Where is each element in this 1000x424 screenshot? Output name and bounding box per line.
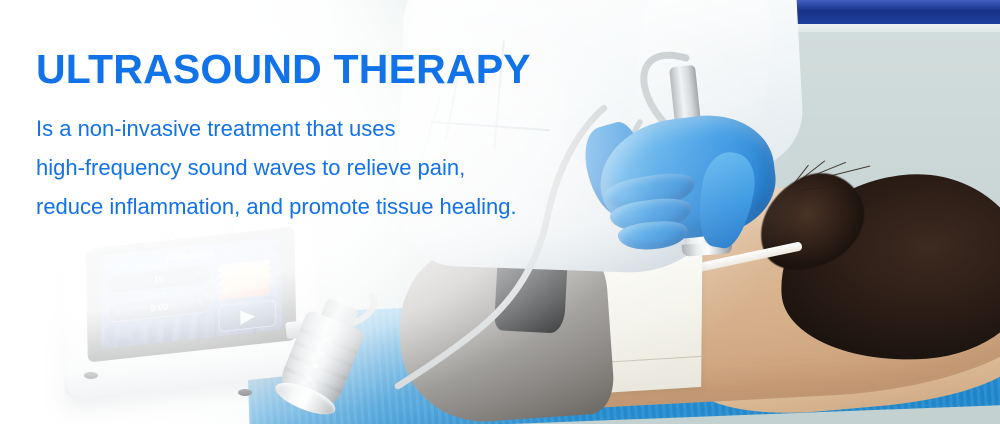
layered-waves-icon bbox=[219, 259, 275, 301]
subtitle-line-3: reduce inflammation, and promote tissue … bbox=[36, 187, 596, 226]
play-icon bbox=[240, 309, 255, 325]
probe-ring bbox=[299, 328, 358, 355]
device-foot bbox=[238, 389, 252, 396]
banner-subtitle: Is a non-invasive treatment that uses hi… bbox=[36, 109, 596, 226]
subtitle-line-1: Is a non-invasive treatment that uses bbox=[36, 109, 596, 148]
chevron-up-icon[interactable]: ^ bbox=[194, 297, 206, 308]
page-title: ULTRASOUND THERAPY bbox=[36, 48, 596, 91]
chevron-up-icon[interactable]: ^ bbox=[194, 269, 206, 280]
device-foot bbox=[84, 372, 98, 379]
subtitle-line-2: high-frequency sound waves to relieve pa… bbox=[36, 148, 596, 187]
device-touchscreen[interactable]: 🔊 Abdomen W 2.5 W/cm2 Strength ‹ 10 ^ Ti… bbox=[100, 236, 283, 349]
banner-copy: ULTRASOUND THERAPY Is a non-invasive tre… bbox=[36, 48, 596, 226]
ultrasound-therapy-banner: 🔊 Abdomen W 2.5 W/cm2 Strength ‹ 10 ^ Ti… bbox=[0, 0, 1000, 424]
